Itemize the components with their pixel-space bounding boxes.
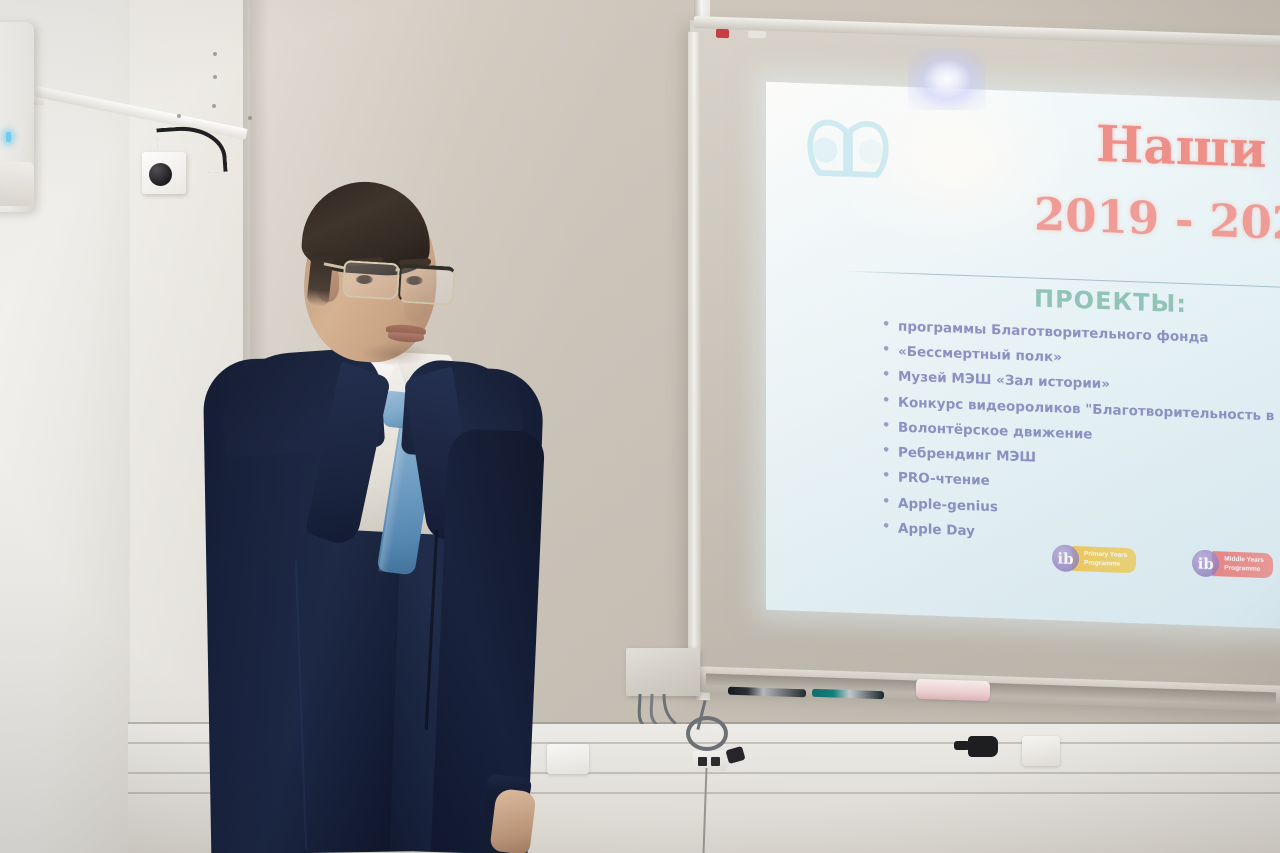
glasses-temple: [324, 262, 346, 269]
presenter: [0, 0, 1280, 853]
glasses-lens-right: [398, 263, 456, 305]
chin-shadow: [360, 342, 430, 366]
eyeglasses-icon: [326, 253, 459, 307]
photo-scene: Наши план 2019 - 2020 уч ПРОЕКТЫ: програ…: [0, 0, 1280, 853]
hand: [489, 788, 536, 853]
glasses-lens-left: [342, 260, 400, 300]
